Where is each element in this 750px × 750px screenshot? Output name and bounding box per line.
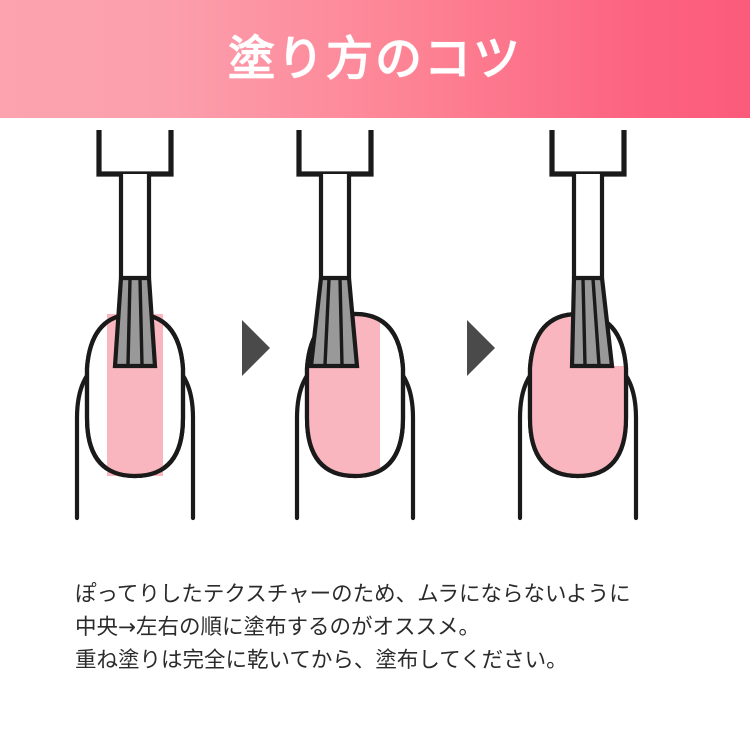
nail-polish-brush-on-nail-icon (508, 118, 698, 558)
nail-polish-brush-on-nail-icon (55, 118, 245, 558)
caption-line-2: 中央→左右の順に塗布するのがオススメ。 (75, 611, 695, 644)
illustration-step-2 (255, 118, 445, 558)
caption-line-3: 重ね塗りは完全に乾いてから、塗布してください。 (75, 644, 695, 677)
page-title: 塗り方のコツ (228, 36, 522, 83)
illustration-sequence (0, 118, 750, 558)
caption-block: ぽってりしたテクスチャーのため、ムラにならないように 中央→左右の順に塗布するの… (75, 578, 695, 677)
header-banner: 塗り方のコツ (0, 0, 750, 118)
caption-line-1: ぽってりしたテクスチャーのため、ムラにならないように (75, 578, 695, 611)
nail-polish-brush-on-nail-icon (255, 118, 445, 558)
arrow-right-icon (463, 318, 503, 378)
illustration-step-3 (508, 118, 698, 558)
illustration-step-1 (55, 118, 245, 558)
